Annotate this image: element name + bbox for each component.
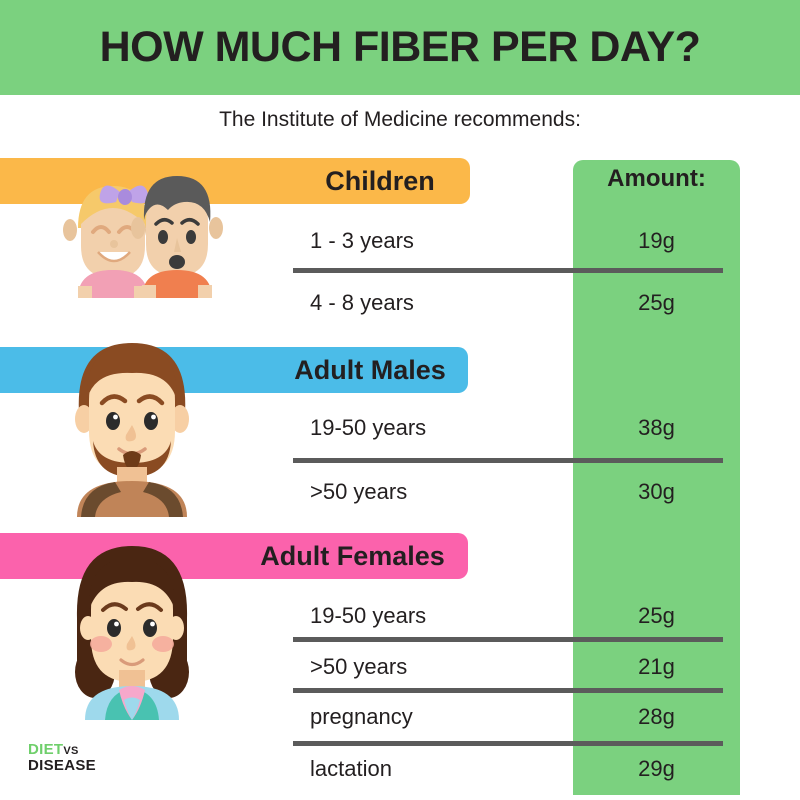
- row-amount: 25g: [573, 603, 740, 629]
- section-title-males: Adult Males: [275, 347, 465, 393]
- row-label: 19-50 years: [310, 603, 426, 629]
- row-divider: [293, 637, 723, 642]
- row-label: 19-50 years: [310, 415, 426, 441]
- logo-diet-text: DIET: [28, 741, 63, 758]
- row-amount: 28g: [573, 704, 740, 730]
- adult-female-avatar: [57, 540, 207, 720]
- row-divider: [293, 741, 723, 746]
- subtitle: The Institute of Medicine recommends:: [0, 108, 800, 132]
- row-divider: [293, 268, 723, 273]
- page-title: HOW MUCH FIBER PER DAY?: [0, 0, 800, 95]
- section-title-children: Children: [300, 158, 460, 204]
- row-divider: [293, 458, 723, 463]
- row-amount: 29g: [573, 756, 740, 782]
- row-label: 1 - 3 years: [310, 228, 414, 254]
- row-amount: 19g: [573, 228, 740, 254]
- row-label: pregnancy: [310, 704, 413, 730]
- amount-column: [573, 160, 740, 795]
- row-amount: 21g: [573, 654, 740, 680]
- adult-male-avatar: [57, 337, 207, 517]
- row-divider: [293, 688, 723, 693]
- children-avatar: [48, 168, 228, 298]
- amount-column-header: Amount:: [573, 165, 740, 193]
- row-label: 4 - 8 years: [310, 290, 414, 316]
- brand-logo: DIETVS DISEASE: [28, 742, 96, 774]
- logo-vs-text: VS: [63, 745, 78, 757]
- row-label: lactation: [310, 756, 392, 782]
- logo-line-one: DIETVS: [28, 742, 96, 758]
- row-label: >50 years: [310, 479, 407, 505]
- row-amount: 30g: [573, 479, 740, 505]
- row-amount: 38g: [573, 415, 740, 441]
- section-title-females: Adult Females: [240, 533, 465, 579]
- row-label: >50 years: [310, 654, 407, 680]
- infographic-page: HOW MUCH FIBER PER DAY? The Institute of…: [0, 0, 800, 800]
- row-amount: 25g: [573, 290, 740, 316]
- logo-disease-text: DISEASE: [28, 758, 96, 774]
